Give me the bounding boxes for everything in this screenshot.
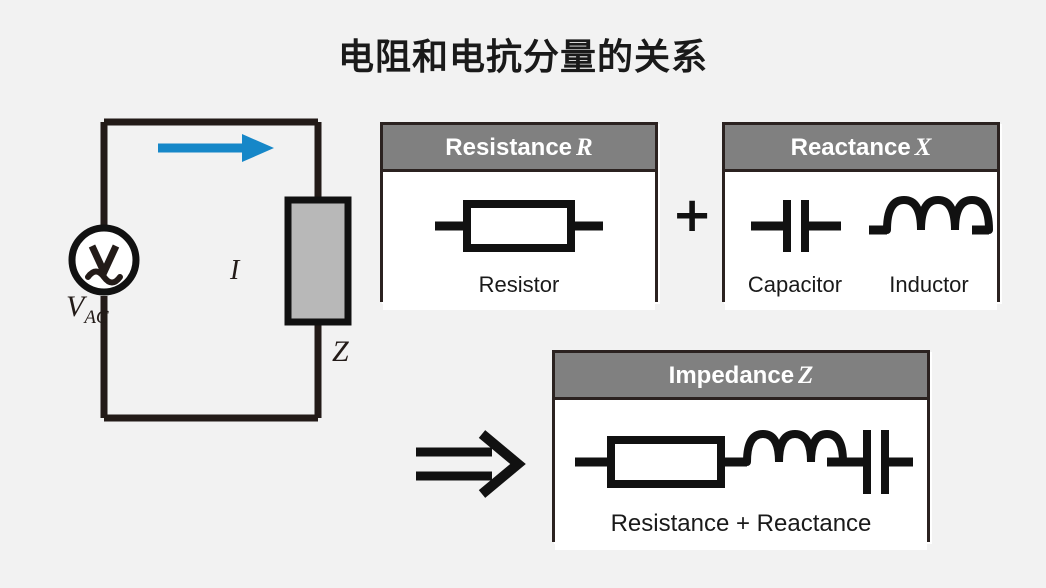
circuit-svg (30, 100, 370, 440)
resistor-body (467, 204, 571, 248)
panel-resistance-variable: R (572, 134, 593, 161)
current-arrow (158, 134, 274, 162)
implies-arrow-icon (408, 424, 528, 504)
panel-impedance: ImpedanceZ Resistance + Reactance (552, 350, 930, 542)
panel-reactance: ReactanceX Capacitor Inductor (722, 122, 1000, 302)
capacitor-caption: Capacitor (727, 272, 863, 298)
series-rlc-symbol (555, 408, 927, 508)
panel-reactance-variable: X (911, 134, 932, 161)
panel-resistance-title: Resistance (445, 134, 572, 161)
resistor-symbol (383, 178, 655, 270)
plus-operator: + (672, 195, 712, 235)
ac-circuit-diagram: VAC I Z (30, 100, 370, 440)
panel-impedance-title: Impedance (669, 362, 794, 389)
source-voltage-label: VAC (66, 290, 109, 329)
panel-resistance: ResistanceR Resistor (380, 122, 658, 302)
panel-reactance-body: Capacitor Inductor (725, 172, 997, 310)
panel-reactance-header: ReactanceX (725, 125, 997, 172)
source-voltage-symbol: V (66, 290, 84, 323)
current-label: I (230, 255, 239, 287)
panel-impedance-header: ImpedanceZ (555, 353, 927, 400)
impedance-load-box (288, 200, 348, 322)
inductor-caption: Inductor (861, 272, 997, 298)
capacitor-symbol (727, 178, 863, 270)
ac-source-circle (72, 228, 136, 292)
inductor-symbol (861, 178, 997, 270)
panel-resistance-body: Resistor (383, 172, 655, 310)
series-resistor-body (611, 440, 721, 484)
panel-reactance-title: Reactance (791, 134, 911, 161)
panel-impedance-body: Resistance + Reactance (555, 400, 927, 550)
impedance-load-label: Z (332, 335, 349, 369)
resistor-caption: Resistor (383, 272, 655, 298)
panel-impedance-variable: Z (794, 362, 813, 389)
panel-resistance-header: ResistanceR (383, 125, 655, 172)
page-title: 电阻和电抗分量的关系 (0, 28, 1046, 80)
source-voltage-subscript: AC (84, 307, 108, 328)
impedance-caption: Resistance + Reactance (555, 510, 927, 538)
